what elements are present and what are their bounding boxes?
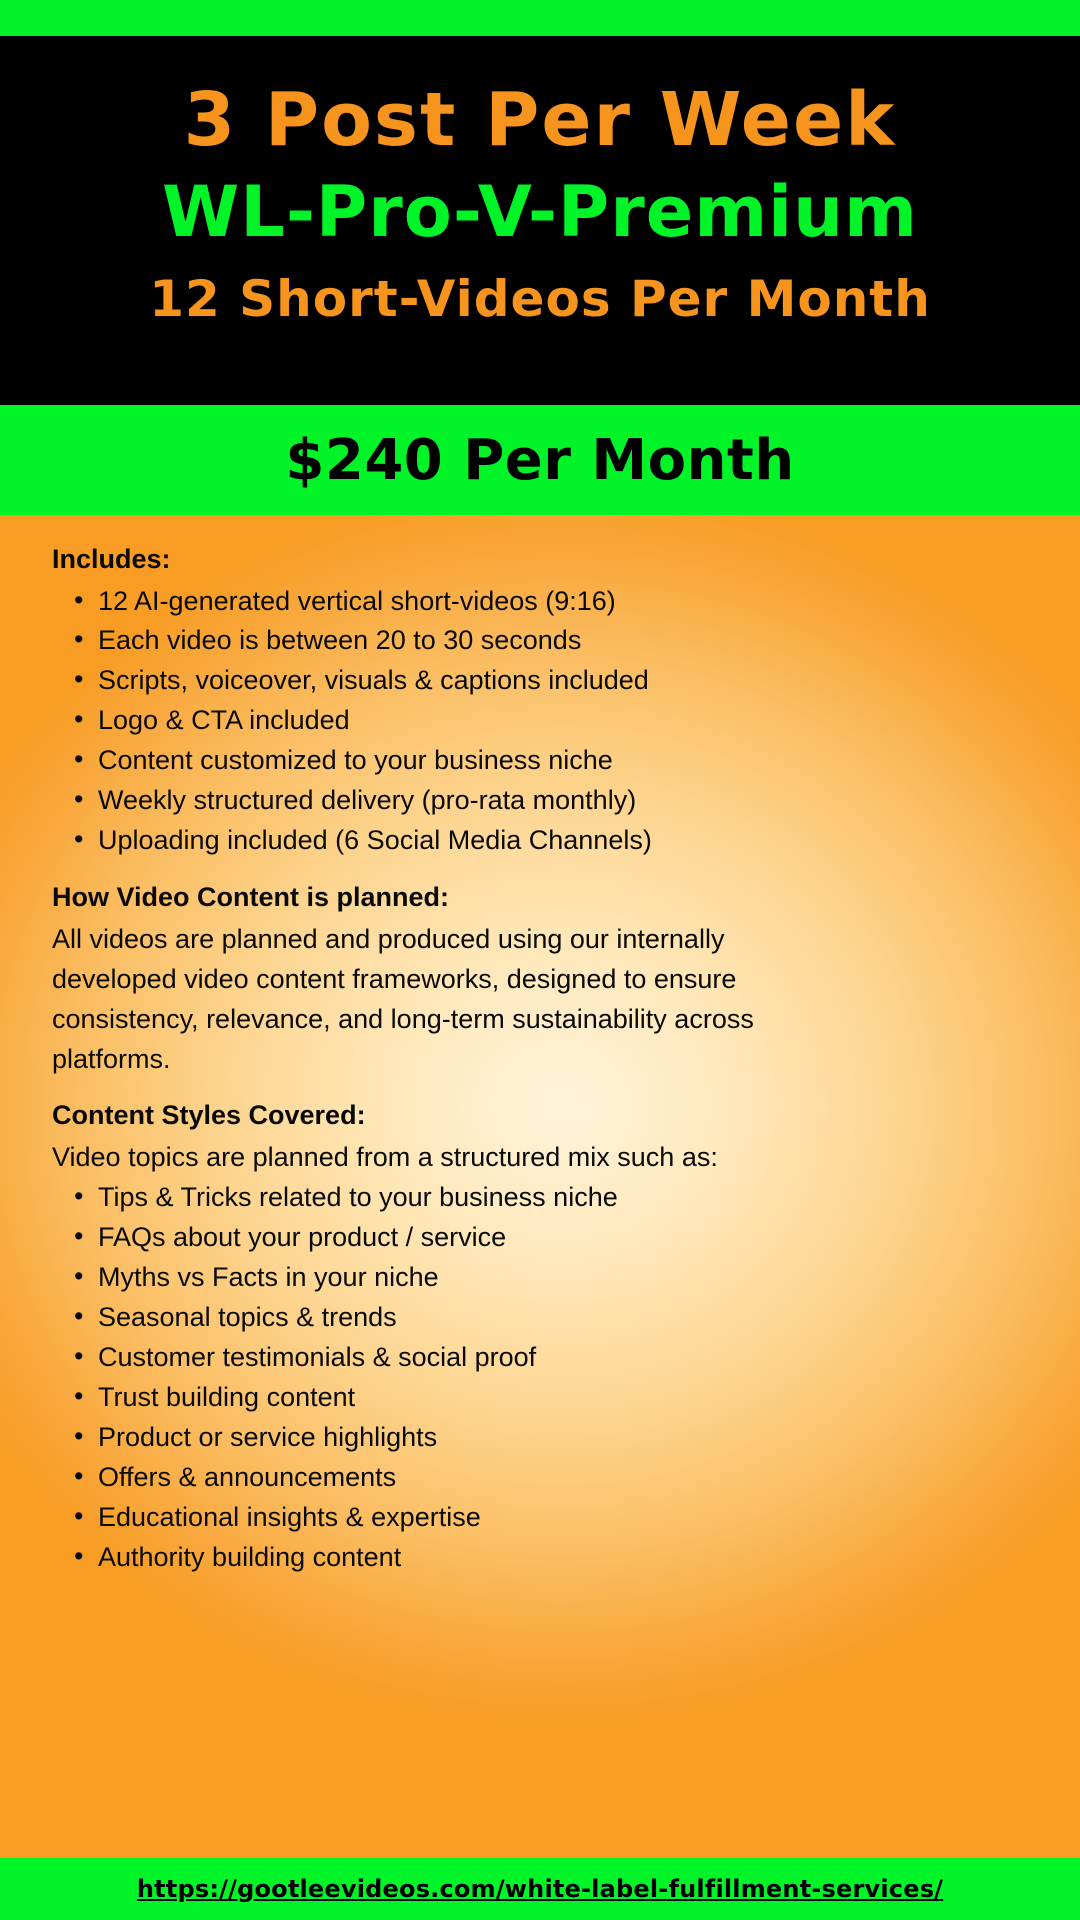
list-item: Educational insights & expertise bbox=[52, 1498, 1040, 1538]
includes-heading: Includes: bbox=[52, 539, 1040, 580]
styles-list: Tips & Tricks related to your business n… bbox=[52, 1178, 1040, 1578]
styles-intro: Video topics are planned from a structur… bbox=[52, 1138, 772, 1178]
website-url-link[interactable]: https://gootleevideos.com/white-label-fu… bbox=[137, 1875, 943, 1903]
price-band: $240 Per Month bbox=[0, 405, 1080, 515]
pricing-poster: 3 Post Per Week WL-Pro-V-Premium 12 Shor… bbox=[0, 0, 1080, 1920]
list-item: Scripts, voiceover, visuals & captions i… bbox=[52, 661, 1040, 701]
list-item: Tips & Tricks related to your business n… bbox=[52, 1178, 1040, 1218]
top-accent-strip bbox=[0, 0, 1080, 36]
spacer bbox=[52, 865, 1040, 875]
list-item: Content customized to your business nich… bbox=[52, 741, 1040, 781]
header-plan-volume: 12 Short-Videos Per Month bbox=[149, 273, 931, 326]
planning-heading: How Video Content is planned: bbox=[52, 877, 1040, 918]
list-item: Customer testimonials & social proof bbox=[52, 1338, 1040, 1378]
list-item: Weekly structured delivery (pro-rata mon… bbox=[52, 781, 1040, 821]
poster-footer: https://gootleevideos.com/white-label-fu… bbox=[0, 1858, 1080, 1920]
price-value: $240 Per Month bbox=[285, 428, 794, 493]
list-item: Uploading included (6 Social Media Chann… bbox=[52, 821, 1040, 861]
list-item: FAQs about your product / service bbox=[52, 1218, 1040, 1258]
includes-list: 12 AI-generated vertical short-videos (9… bbox=[52, 582, 1040, 862]
poster-header: 3 Post Per Week WL-Pro-V-Premium 12 Shor… bbox=[0, 36, 1080, 405]
list-item: Logo & CTA included bbox=[52, 701, 1040, 741]
spacer bbox=[52, 1079, 1040, 1093]
list-item: Offers & announcements bbox=[52, 1458, 1040, 1498]
list-item: 12 AI-generated vertical short-videos (9… bbox=[52, 582, 1040, 622]
header-plan-frequency: 3 Post Per Week bbox=[184, 82, 897, 160]
list-item: Trust building content bbox=[52, 1378, 1040, 1418]
styles-heading: Content Styles Covered: bbox=[52, 1095, 1040, 1136]
poster-body: Includes: 12 AI-generated vertical short… bbox=[0, 515, 1080, 1858]
header-plan-name: WL-Pro-V-Premium bbox=[162, 176, 918, 250]
list-item: Myths vs Facts in your niche bbox=[52, 1258, 1040, 1298]
list-item: Authority building content bbox=[52, 1538, 1040, 1578]
planning-paragraph: All videos are planned and produced usin… bbox=[52, 920, 772, 1080]
list-item: Each video is between 20 to 30 seconds bbox=[52, 621, 1040, 661]
list-item: Seasonal topics & trends bbox=[52, 1298, 1040, 1338]
list-item: Product or service highlights bbox=[52, 1418, 1040, 1458]
